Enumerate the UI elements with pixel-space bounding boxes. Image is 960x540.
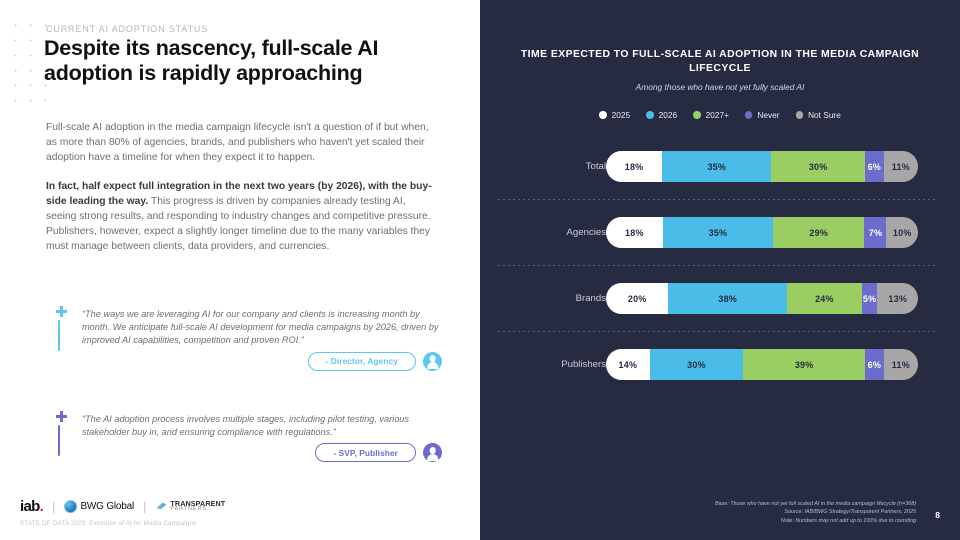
quote-attribution-row: - SVP, Publisher [82, 443, 442, 462]
bar-segment-2025: 18% [606, 151, 662, 182]
logo-divider: | [52, 500, 55, 513]
logo-strip: iab. | BWG Global | TRANSPARENT PARTNERS [20, 498, 225, 514]
legend-label: Not Sure [808, 110, 841, 120]
bar-segment-2027-: 29% [773, 217, 864, 248]
stacked-bar: 18%35%29%7%10% [606, 217, 918, 248]
transparent-partners-text: TRANSPARENT PARTNERS [170, 500, 225, 512]
legend-swatch-icon [693, 111, 701, 119]
chart-subtitle: Among those who have not yet fully scale… [520, 82, 920, 92]
chart-row-label: Brands [510, 272, 606, 324]
legend-label: 2026 [659, 110, 677, 120]
plus-icon [56, 306, 67, 317]
bar-segment-never: 6% [865, 349, 884, 380]
page-title: Despite its nascency, full-scale AI adop… [44, 36, 444, 86]
bar-segment-not-sure: 11% [884, 349, 918, 380]
paragraph-1: Full-scale AI adoption in the media camp… [46, 120, 436, 166]
row-separator [480, 258, 960, 272]
row-separator [480, 192, 960, 206]
footnote-line: Note: Numbers may not add up to 100% due… [715, 517, 916, 525]
paragraph-2: In fact, half expect full integration in… [46, 179, 436, 255]
globe-icon [64, 500, 77, 513]
quote-card-publisher: “The AI adoption process involves multip… [52, 413, 442, 462]
bwg-global-logo: BWG Global [64, 500, 134, 513]
legend-swatch-icon [646, 111, 654, 119]
chart-row-label: Total [510, 140, 606, 192]
quote-accent-bar [58, 425, 61, 456]
bar-segment-2025: 20% [606, 283, 668, 314]
bar-segment-2025: 14% [606, 349, 650, 380]
footnote-line: Base: Those who have not yet full scaled… [715, 500, 916, 508]
person-avatar-icon [423, 352, 442, 371]
legend-swatch-icon [796, 111, 804, 119]
legend-swatch-icon [745, 111, 753, 119]
legend-item-not-sure: Not Sure [796, 110, 841, 120]
bar-segment-2027-: 39% [743, 349, 865, 380]
bar-segment-2027-: 24% [787, 283, 862, 314]
bar-segment-2025: 18% [606, 217, 663, 248]
left-content-panel: CURRENT AI ADOPTION STATUS Despite its n… [0, 0, 480, 540]
quote-attribution-pill: - Director, Agency [308, 352, 417, 371]
legend-item-2026: 2026 [646, 110, 677, 120]
quote-text: “The AI adoption process involves multip… [82, 413, 442, 439]
bar-segment-2026: 38% [668, 283, 787, 314]
chart-title: TIME EXPECTED TO FULL-SCALE AI ADOPTION … [520, 48, 920, 76]
bar-segment-not-sure: 10% [886, 217, 918, 248]
bar-segment-not-sure: 11% [884, 151, 918, 182]
bar-segment-never: 5% [862, 283, 878, 314]
deck-footer-line: STATE OF DATA 2025: Evolution of AI for … [20, 520, 225, 527]
person-avatar-icon [423, 443, 442, 462]
iab-logo: iab. [20, 499, 43, 514]
legend-item-never: Never [745, 110, 780, 120]
chart-panel: TIME EXPECTED TO FULL-SCALE AI ADOPTION … [480, 0, 960, 540]
bar-segment-not-sure: 13% [877, 283, 918, 314]
body-copy: Full-scale AI adoption in the media camp… [46, 120, 436, 268]
chart-row-label: Publishers [510, 338, 606, 390]
bwg-logo-text: BWG Global [80, 501, 134, 512]
bar-segment-2027-: 30% [771, 151, 865, 182]
quote-attribution-pill: - SVP, Publisher [315, 443, 416, 462]
logo-divider: | [143, 500, 146, 513]
bar-segment-never: 7% [864, 217, 886, 248]
chart-row: Total18%35%30%6%11% [480, 140, 960, 192]
legend-label: 2025 [612, 110, 630, 120]
plus-icon [56, 411, 67, 422]
slide: CURRENT AI ADOPTION STATUS Despite its n… [0, 0, 960, 540]
transparent-partners-logo: TRANSPARENT PARTNERS [155, 500, 225, 512]
chart-row-label: Agencies [510, 206, 606, 258]
chart-legend: 202520262027+NeverNot Sure [520, 110, 920, 120]
footer: iab. | BWG Global | TRANSPARENT PARTNERS… [20, 498, 225, 527]
quote-text: “The ways we are leveraging AI for our c… [82, 308, 442, 348]
quote-attribution-row: - Director, Agency [82, 352, 442, 371]
chart-row: Agencies18%35%29%7%10% [480, 206, 960, 258]
chart-row: Brands20%38%24%5%13% [480, 272, 960, 324]
stacked-bar: 18%35%30%6%11% [606, 151, 918, 182]
legend-item-2025: 2025 [599, 110, 630, 120]
legend-swatch-icon [599, 111, 607, 119]
legend-label: 2027+ [706, 110, 729, 120]
bar-segment-2026: 30% [650, 349, 744, 380]
bar-segment-2026: 35% [662, 151, 771, 182]
eyebrow-label: CURRENT AI ADOPTION STATUS [46, 24, 208, 34]
leaf-icon [155, 501, 167, 512]
row-separator [480, 324, 960, 338]
iab-logo-dot: . [40, 498, 43, 515]
footnote-line: Source: IAB/BWG Strategy/Transparent Par… [715, 508, 916, 516]
chart-rows: Total18%35%30%6%11%Agencies18%35%29%7%10… [480, 140, 960, 390]
stacked-bar: 20%38%24%5%13% [606, 283, 918, 314]
chart-row: Publishers14%30%39%6%11% [480, 338, 960, 390]
legend-label: Never [757, 110, 779, 120]
stacked-bar: 14%30%39%6%11% [606, 349, 918, 380]
page-number: 8 [935, 510, 940, 520]
quote-card-agency: “The ways we are leveraging AI for our c… [52, 308, 442, 371]
legend-item-2027-: 2027+ [693, 110, 729, 120]
quote-accent-bar [58, 320, 61, 351]
chart-footnote: Base: Those who have not yet full scaled… [715, 500, 916, 525]
bar-segment-never: 6% [865, 151, 884, 182]
bar-segment-2026: 35% [663, 217, 773, 248]
